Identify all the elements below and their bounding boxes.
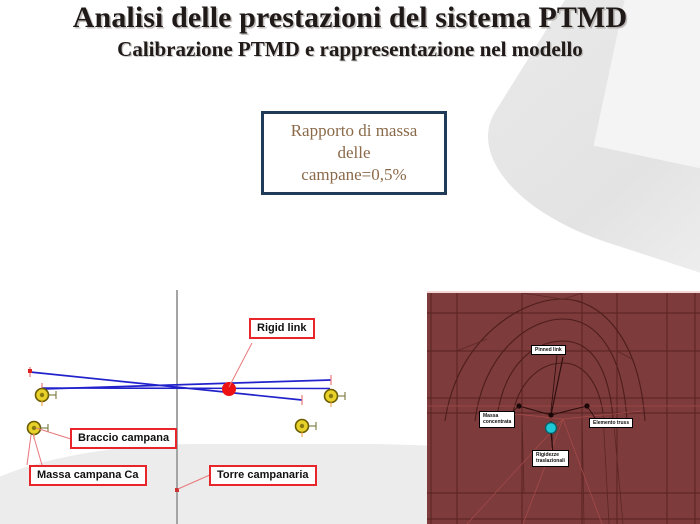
mass-upper-left <box>36 389 57 407</box>
title-block: Analisi delle prestazioni del sistema PT… <box>0 2 700 61</box>
page-title: Analisi delle prestazioni del sistema PT… <box>0 2 700 34</box>
fem-label-pinned-link: Pinned link <box>531 345 566 355</box>
fem-image-top-edge <box>427 291 700 293</box>
mass-upper-right <box>325 390 346 408</box>
diagram-label-braccio-campana: Braccio campana <box>70 428 177 449</box>
fem-background <box>427 293 700 524</box>
fem-label-massa-concentrata: Massa concentrata <box>479 411 515 428</box>
fem-label-elemento-truss: Elemento truss <box>589 418 633 428</box>
arm-end-marker <box>28 369 32 373</box>
leader-torre <box>178 474 212 489</box>
fem-spring-node <box>546 423 557 434</box>
page-subtitle: Calibrazione PTMD e rappresentazione nel… <box>0 38 700 61</box>
leader-rigid-link <box>229 343 252 387</box>
diagram-label-massa-campana: Massa campana Ca <box>29 465 147 486</box>
leader-massa-ca-2 <box>27 435 31 465</box>
diagram-label-torre-campanaria: Torre campanaria <box>209 465 317 486</box>
diagram-label-rigid-link: Rigid link <box>249 318 315 339</box>
mass-lower-right <box>296 420 317 438</box>
leader-braccio <box>36 428 74 440</box>
schematic-diagram <box>0 288 372 524</box>
fem-label-rigidezze-traslazionali: Rigidezze traslazionali <box>532 450 569 467</box>
slide-root: Analisi delle prestazioni del sistema PT… <box>0 0 700 524</box>
mass-ratio-text: Rapporto di massa delle campane=0,5% <box>291 120 418 185</box>
leader-massa-ca-1 <box>33 434 42 465</box>
rigid-link-node <box>222 382 236 396</box>
fem-model-image <box>427 293 700 524</box>
bell-arm-2 <box>30 372 302 400</box>
mass-ratio-callout-box: Rapporto di massa delle campane=0,5% <box>261 111 447 195</box>
fem-node-top <box>548 412 553 417</box>
